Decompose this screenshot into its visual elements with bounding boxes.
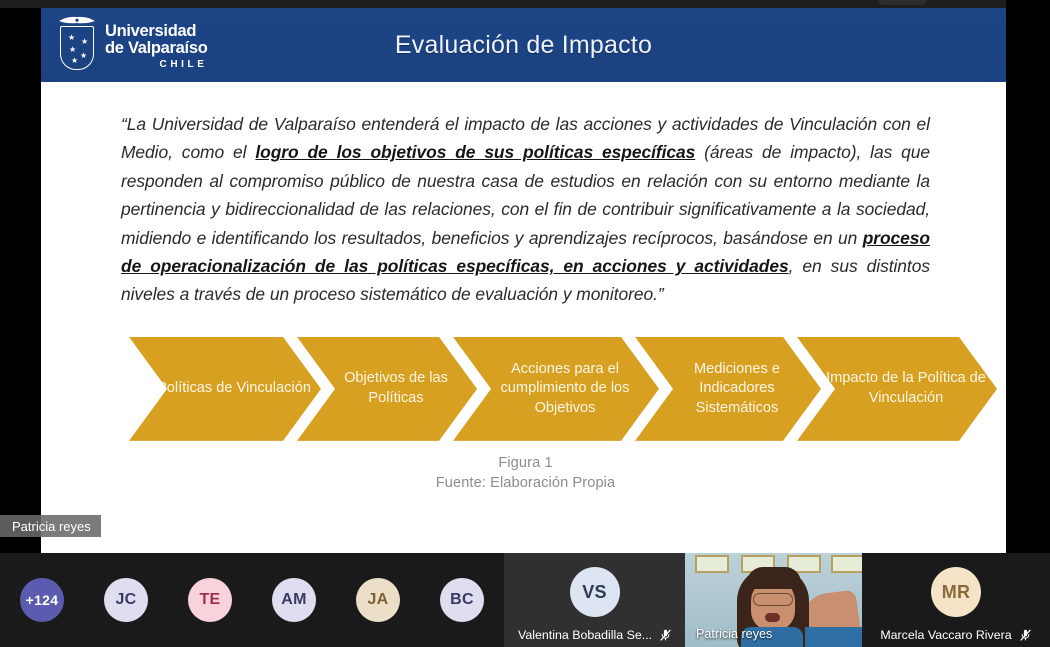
avatar: BC bbox=[440, 578, 484, 622]
stage-right-gutter bbox=[1006, 0, 1050, 553]
avatar: MR bbox=[931, 567, 981, 617]
flow-step-1: Políticas de Vinculación bbox=[129, 337, 321, 441]
slide-header-band: ★ ★ ★ ★ ★ Universidad de Valparaíso CHIL… bbox=[41, 8, 1006, 82]
participant-footer: Valentina Bobadilla Se... bbox=[504, 628, 685, 642]
window-handle-pill[interactable] bbox=[878, 0, 926, 5]
participant-name: Valentina Bobadilla Se... bbox=[518, 628, 652, 642]
participant-tile-marcela[interactable]: MR Marcela Vaccaro Rivera bbox=[862, 553, 1050, 647]
participant-tile-am[interactable]: AM bbox=[252, 553, 336, 647]
avatar: VS bbox=[570, 567, 620, 617]
slide-title: Evaluación de Impacto bbox=[41, 8, 1006, 82]
shared-slide[interactable]: ★ ★ ★ ★ ★ Universidad de Valparaíso CHIL… bbox=[41, 8, 1006, 553]
flow-step-2: Objetivos de las Políticas bbox=[297, 337, 477, 441]
avatar: JA bbox=[356, 578, 400, 622]
participant-tile-jc[interactable]: JC bbox=[84, 553, 168, 647]
participant-tile-bc[interactable]: BC bbox=[420, 553, 504, 647]
participant-tile-valentina[interactable]: VS Valentina Bobadilla Se... bbox=[504, 553, 685, 647]
flow-step-3: Acciones para el cumplimiento de los Obj… bbox=[453, 337, 659, 441]
participant-filmstrip[interactable]: +124 JC TE AM JA BC VS Valentina Bobadil… bbox=[0, 553, 1050, 647]
figure-caption: Figura 1 Fuente: Elaboración Propia bbox=[121, 453, 930, 493]
avatar: AM bbox=[272, 578, 316, 622]
person-fringe bbox=[747, 567, 801, 589]
quote-emphasis-1: logro de los objetivos de sus políticas … bbox=[255, 142, 695, 162]
participant-tile-patricia-video[interactable]: Patricia reyes bbox=[685, 553, 862, 647]
figure-caption-line-1: Figura 1 bbox=[121, 453, 930, 473]
mic-muted-icon bbox=[659, 628, 672, 642]
mic-muted-icon bbox=[1019, 628, 1032, 642]
participant-name: Marcela Vaccaro Rivera bbox=[880, 628, 1011, 642]
wall-picture-frame bbox=[831, 555, 862, 573]
slide-body: “La Universidad de Valparaíso entenderá … bbox=[41, 82, 1006, 493]
participant-footer: Marcela Vaccaro Rivera bbox=[862, 628, 1050, 642]
avatar: +124 bbox=[20, 578, 64, 622]
participant-tile-overflow[interactable]: +124 bbox=[0, 553, 84, 647]
participant-tile-te[interactable]: TE bbox=[168, 553, 252, 647]
figure-caption-line-2: Fuente: Elaboración Propia bbox=[121, 473, 930, 493]
flow-step-4: Mediciones e Indicadores Sistemáticos bbox=[635, 337, 821, 441]
participant-tile-ja[interactable]: JA bbox=[336, 553, 420, 647]
flow-step-5: Impacto de la Política de Vinculación bbox=[797, 337, 997, 441]
presenter-name-badge: Patricia reyes bbox=[0, 515, 101, 537]
slide-quote: “La Universidad de Valparaíso entenderá … bbox=[121, 110, 930, 309]
avatar: JC bbox=[104, 578, 148, 622]
participant-name: Patricia reyes bbox=[696, 627, 772, 641]
person-sleeve bbox=[805, 627, 862, 647]
wall-picture-frame bbox=[695, 555, 729, 573]
person-glasses bbox=[753, 593, 793, 606]
person-mouth bbox=[765, 613, 780, 622]
process-flow-diagram: Políticas de Vinculación Objetivos de la… bbox=[129, 337, 1006, 441]
avatar: TE bbox=[188, 578, 232, 622]
meeting-stage: ★ ★ ★ ★ ★ Universidad de Valparaíso CHIL… bbox=[0, 0, 1050, 553]
